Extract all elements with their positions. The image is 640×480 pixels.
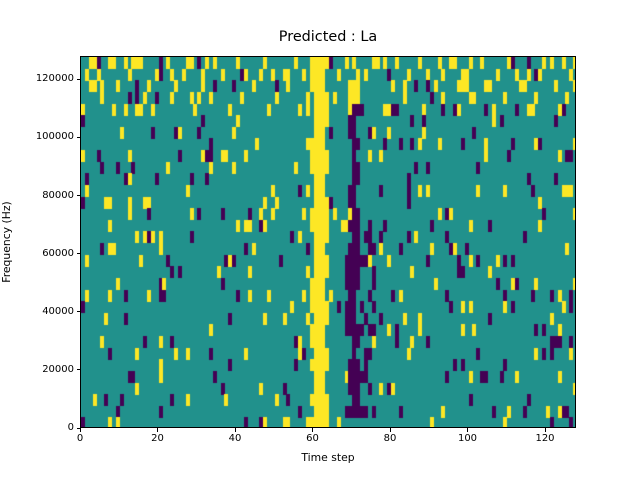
x-tick-label: 100 — [458, 434, 477, 444]
heatmap-axes — [80, 56, 576, 428]
y-tick-mark — [77, 253, 81, 254]
heatmap-image — [81, 57, 576, 428]
x-tick-mark — [467, 428, 468, 432]
x-tick-label: 80 — [384, 434, 397, 444]
x-axis-label: Time step — [80, 453, 576, 464]
y-tick-label: 20000 — [42, 365, 74, 375]
x-tick-label: 0 — [77, 434, 83, 444]
x-tick-mark — [157, 428, 158, 432]
y-axis-label: Frequency (Hz) — [0, 56, 14, 428]
y-tick-label: 40000 — [42, 307, 74, 317]
y-tick-mark — [77, 137, 81, 138]
x-tick-mark — [390, 428, 391, 432]
x-tick-label: 40 — [229, 434, 242, 444]
x-tick-label: 120 — [535, 434, 554, 444]
y-tick-mark — [77, 79, 81, 80]
y-tick-label: 60000 — [42, 249, 74, 259]
x-tick-label: 60 — [306, 434, 319, 444]
x-tick-label: 20 — [151, 434, 164, 444]
matplotlib-figure: Predicted : La 0200004000060000800001000… — [0, 0, 640, 480]
x-tick-mark — [80, 428, 81, 432]
page-title: Predicted : La — [80, 30, 576, 44]
x-tick-mark — [312, 428, 313, 432]
y-tick-mark — [77, 369, 81, 370]
y-tick-label: 100000 — [36, 132, 74, 142]
x-tick-mark — [545, 428, 546, 432]
y-tick-mark — [77, 311, 81, 312]
y-tick-label: 0 — [68, 423, 74, 433]
y-tick-label: 80000 — [42, 191, 74, 201]
y-tick-label: 120000 — [36, 74, 74, 84]
x-tick-mark — [235, 428, 236, 432]
y-tick-mark — [77, 195, 81, 196]
